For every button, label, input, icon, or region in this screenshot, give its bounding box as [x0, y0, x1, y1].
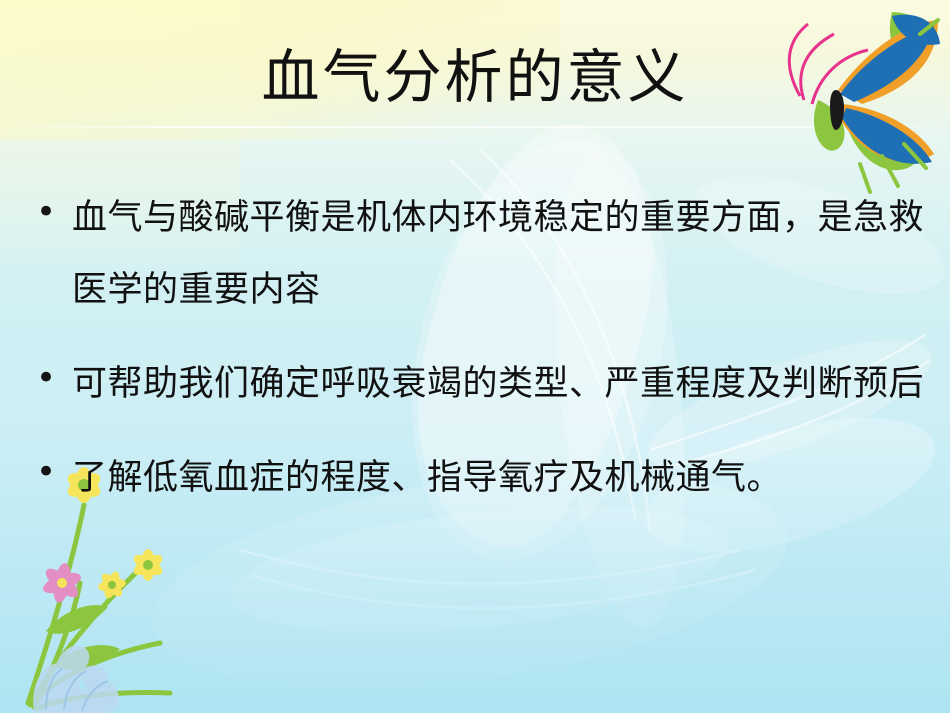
page-title: 血气分析的意义 — [0, 42, 950, 112]
slide: 血气分析的意义 • 血气与酸碱平衡是机体内环境稳定的重要方面，是急救医学的重要内… — [0, 0, 950, 713]
bullet-text: 血气与酸碱平衡是机体内环境稳定的重要方面，是急救医学的重要内容 — [72, 182, 926, 326]
bullet-marker: • — [36, 348, 72, 408]
bullet-text: 可帮助我们确定呼吸衰竭的类型、严重程度及判断预后 — [72, 348, 926, 420]
bullet-marker: • — [36, 182, 72, 242]
bullet-list: • 血气与酸碱平衡是机体内环境稳定的重要方面，是急救医学的重要内容 • 可帮助我… — [36, 182, 926, 536]
bullet-marker: • — [36, 442, 72, 502]
list-item: • 了解低氧血症的程度、指导氧疗及机械通气。 — [36, 442, 926, 514]
list-item: • 可帮助我们确定呼吸衰竭的类型、严重程度及判断预后 — [36, 348, 926, 420]
list-item: • 血气与酸碱平衡是机体内环境稳定的重要方面，是急救医学的重要内容 — [36, 182, 926, 326]
bullet-text: 了解低氧血症的程度、指导氧疗及机械通气。 — [72, 442, 926, 514]
